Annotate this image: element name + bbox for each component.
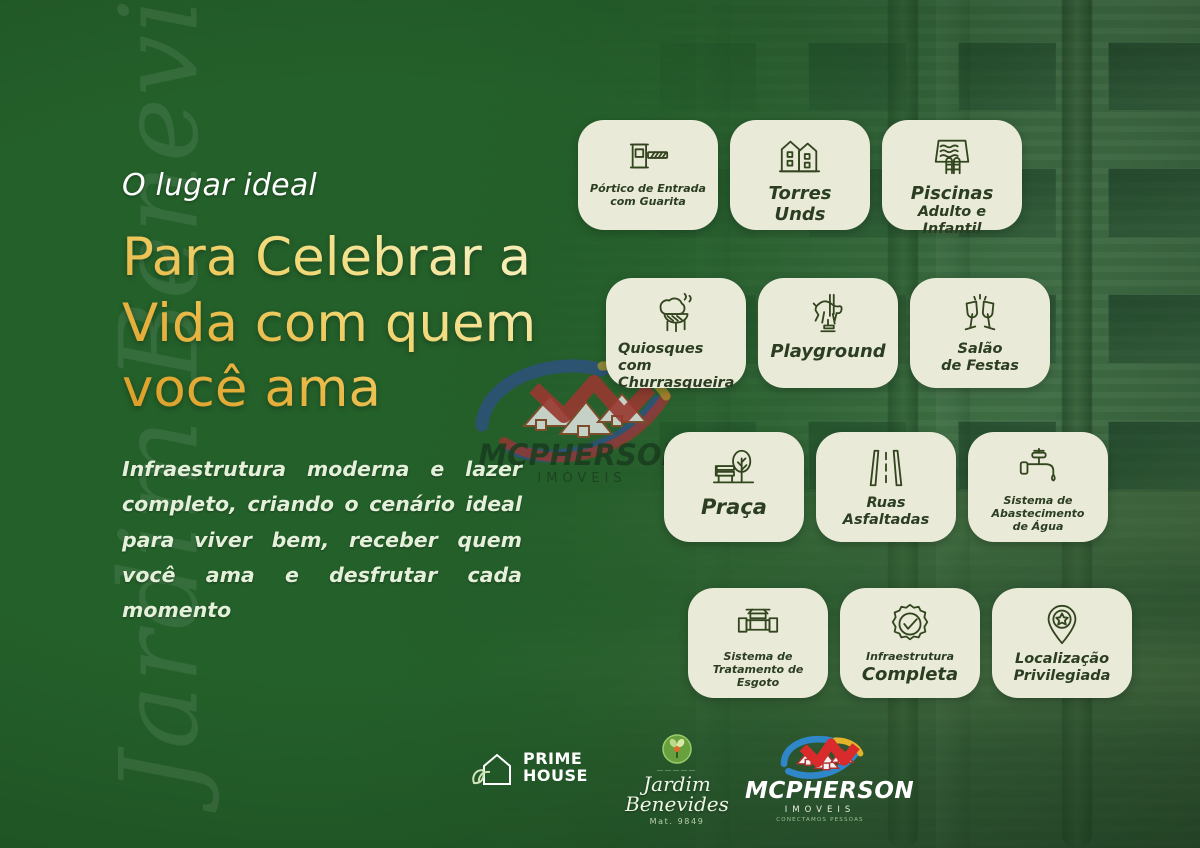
feature-card[interactable]: Ruas Asfaltadas <box>816 432 956 542</box>
prime-house-logo[interactable]: PRIME HOUSE <box>470 750 588 786</box>
feature-label: PiscinasAdulto e Infantil <box>882 183 1022 238</box>
feature-card[interactable]: Pórtico de Entradacom Guarita <box>578 120 718 230</box>
champagne-toast-icon <box>957 291 1003 337</box>
feature-label-line: Praça <box>669 495 799 520</box>
feature-label-line: Torres <box>735 183 865 204</box>
location-pin-star-icon <box>1039 601 1085 647</box>
feature-label: LocalizaçãoPrivilegiada <box>992 651 1132 685</box>
towers-buildings-icon <box>777 133 823 179</box>
feature-card[interactable]: Playground <box>758 278 898 388</box>
asphalt-road-icon <box>863 445 909 491</box>
main-headline: Para Celebrar aVida com quemvocê ama <box>122 225 542 422</box>
headline-line: você ama <box>122 356 542 422</box>
feature-label-line: de Festas <box>915 358 1045 375</box>
quality-seal-check-icon <box>887 601 933 647</box>
headline-block: O lugar ideal Para Celebrar aVida com qu… <box>122 168 542 664</box>
feature-label-line: Churrasqueira <box>618 375 741 392</box>
swimming-pool-icon <box>929 133 975 179</box>
body-paragraph: Infraestrutura moderna e lazer completo,… <box>122 452 522 664</box>
mcpherson-tagline: CONECTAMOS PESSOAS <box>745 817 895 823</box>
mcpherson-subtitle: IMOVEIS <box>745 805 895 815</box>
carousel-horse-icon <box>805 291 851 337</box>
feature-card[interactable]: Praça <box>664 432 804 542</box>
feature-card[interactable]: PiscinasAdulto e Infantil <box>882 120 1022 230</box>
feature-label-line: de Água <box>973 521 1103 534</box>
feature-card[interactable]: InfraestruturaCompleta <box>840 588 980 698</box>
jardim-benevides-logo[interactable]: ————— Jardim Benevides Mat. 9849 <box>612 734 742 826</box>
feature-label-line: Infraestrutura <box>845 651 975 664</box>
mcpherson-logo[interactable]: MCPHERSON IMOVEIS CONECTAMOS PESSOAS <box>745 730 895 823</box>
prime-line2: HOUSE <box>523 766 588 785</box>
mcpherson-emblem-icon <box>772 730 868 780</box>
kicker-text: O lugar ideal <box>122 168 542 203</box>
feature-card[interactable]: TorresUnds <box>730 120 870 230</box>
footer-logos: PRIME HOUSE ————— Jardim Benevides Mat. … <box>0 730 1200 840</box>
feature-label: InfraestruturaCompleta <box>840 651 980 685</box>
house-leaf-icon <box>470 750 514 786</box>
feature-label-line: Privilegiada <box>997 668 1127 685</box>
feature-label: TorresUnds <box>730 183 870 225</box>
headline-line: Vida com quem <box>122 291 542 357</box>
feature-label: Salãode Festas <box>910 341 1050 375</box>
mcpherson-wordmark: MCPHERSON <box>745 780 895 803</box>
water-tap-icon <box>1015 445 1061 491</box>
feature-label: Sistema deTratamento deEsgoto <box>688 651 828 690</box>
feature-label-line: Piscinas <box>887 183 1017 204</box>
feature-label-line: Playground <box>763 341 893 362</box>
feature-label-line: Ruas Asfaltadas <box>821 495 951 529</box>
feature-label-line: Quiosques <box>618 341 741 358</box>
feature-label: Pórtico de Entradacom Guarita <box>578 183 718 209</box>
headline-line: Para Celebrar a <box>122 225 542 291</box>
feature-label-line: Salão <box>915 341 1045 358</box>
feature-label: Praça <box>664 495 804 520</box>
feature-label-line: com Guarita <box>583 196 713 209</box>
feature-card[interactable]: Sistema deAbastecimentode Água <box>968 432 1108 542</box>
feature-label-line: Completa <box>845 664 975 685</box>
feature-card[interactable]: LocalizaçãoPrivilegiada <box>992 588 1132 698</box>
feature-label-line: Abastecimento <box>973 508 1103 521</box>
feature-label-line: Esgoto <box>693 677 823 690</box>
feature-label-line: Adulto e Infantil <box>887 204 1017 238</box>
feature-label-line: com <box>618 358 741 375</box>
feature-label-line: Localização <box>997 651 1127 668</box>
park-bench-tree-icon <box>711 445 757 491</box>
feature-label-line: Tratamento de <box>693 664 823 677</box>
feature-card[interactable]: Sistema deTratamento deEsgoto <box>688 588 828 698</box>
prime-house-wordmark: PRIME HOUSE <box>523 751 588 785</box>
gate-barrier-icon <box>625 133 671 179</box>
feature-card[interactable]: Salãode Festas <box>910 278 1050 388</box>
feature-label: Playground <box>758 341 898 362</box>
feature-card[interactable]: QuiosquescomChurrasqueira <box>606 278 746 388</box>
pipe-valve-icon <box>735 601 781 647</box>
barbecue-grill-icon <box>653 291 699 337</box>
feature-label: Sistema deAbastecimentode Água <box>968 495 1108 534</box>
tree-emblem-icon <box>657 734 697 768</box>
jardim-wordmark: Jardim Benevides <box>612 774 742 814</box>
feature-label: QuiosquescomChurrasqueira <box>606 341 746 392</box>
jardim-registration: Mat. 9849 <box>612 817 742 826</box>
feature-label-line: Unds <box>735 204 865 225</box>
poster-canvas: Jardim Benevides MCPHERSON IMÓVEIS O lug… <box>0 0 1200 848</box>
feature-label: Ruas Asfaltadas <box>816 495 956 529</box>
